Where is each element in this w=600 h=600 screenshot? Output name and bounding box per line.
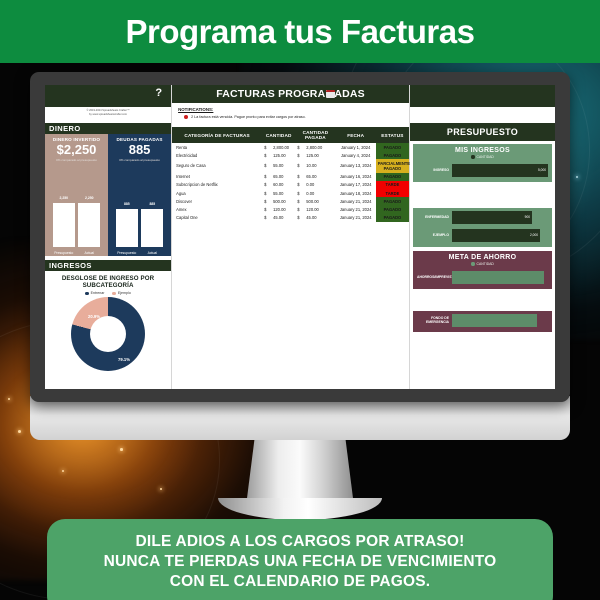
bills-column: FACTURAS PROGRAMADAS NOTIFICATIONS: 2 La… xyxy=(171,85,410,389)
cell-category: Amex xyxy=(172,205,262,213)
cell-date: January 4, 2024 xyxy=(336,151,376,159)
panel-divider-white xyxy=(413,182,552,208)
donut-chart: 79.1% 20.9% xyxy=(71,297,145,371)
income-panel-legend: CANTIDAD xyxy=(417,155,548,159)
cell-category: Agua xyxy=(172,189,262,197)
kpi-card-invertido[interactable]: DINERO INVERTIDO $2,250 0% comparado al … xyxy=(45,134,108,256)
spark xyxy=(18,430,21,433)
cell-category: Internet xyxy=(172,173,262,181)
monitor-screen: ? © 2019-2024 Spreadsheets Crafter™ by w… xyxy=(45,85,555,389)
panel-divider-white xyxy=(413,289,552,311)
monitor: ? © 2019-2024 Spreadsheets Crafter™ by w… xyxy=(30,72,570,402)
monitor-chin xyxy=(30,396,570,440)
spark xyxy=(576,176,578,178)
kpi-bar-label: Actual xyxy=(72,251,106,255)
legend-item: CANTIDAD xyxy=(471,155,494,159)
table-row[interactable]: Renta$2,800.00$2,800.00January 1, 2024PA… xyxy=(172,143,409,151)
cell-amount: $120.00 xyxy=(262,205,295,213)
monitor-stand-column xyxy=(246,438,354,506)
hbar-row: INGRESO 5,000 xyxy=(417,164,548,177)
table-row[interactable]: Seguro de Casa$55.00$10.00January 13, 20… xyxy=(172,159,409,172)
legend-swatch-icon xyxy=(471,262,474,265)
cell-paid: $10.00 xyxy=(295,159,335,172)
savings-panel-title: META DE AHORRO xyxy=(417,254,548,261)
hbar-row: FONDO DE EMERGENCIA xyxy=(417,314,548,327)
bills-table[interactable]: CATEGORÍA DE FACTURAS CANTIDAD CANTIDAD … xyxy=(172,127,409,222)
left-dashboard-column: ? © 2019-2024 Spreadsheets Crafter™ by w… xyxy=(45,85,171,389)
left-top-band: ? xyxy=(45,85,171,107)
kpi-bar-label: Actual xyxy=(135,251,169,255)
table-header-row: CATEGORÍA DE FACTURAS CANTIDAD CANTIDAD … xyxy=(172,127,409,143)
right-spacer xyxy=(410,107,555,123)
cell-paid: $0.00 xyxy=(295,181,335,189)
col-header-category: CATEGORÍA DE FACTURAS xyxy=(172,127,262,143)
cell-paid: $500.00 xyxy=(295,197,335,205)
cell-date: January 18, 2024 xyxy=(336,189,376,197)
cell-paid: $2,800.00 xyxy=(295,143,335,151)
kpi-bar-value: 2,250 xyxy=(53,196,75,200)
bottom-banner: DILE ADIOS A LOS CARGOS POR ATRASO! NUNC… xyxy=(47,519,553,600)
spark xyxy=(160,488,162,490)
hbar: 5,000 xyxy=(452,164,548,177)
table-row[interactable]: Discover$500.00$500.00January 21, 2024PA… xyxy=(172,197,409,205)
kpi-bar: 885 Actual xyxy=(141,209,163,247)
cell-category: Seguro de Casa xyxy=(172,159,262,172)
status-badge: PAGADO xyxy=(376,173,409,181)
status-badge: TARDE xyxy=(376,181,409,189)
cell-date: January 13, 2024 xyxy=(336,159,376,172)
donut-title: DESGLOSE DE INGRESO POR SUBCATEGORÍA xyxy=(48,275,168,289)
cell-date: January 21, 2024 xyxy=(336,205,376,213)
notification-text: 2 La factura está vencida. Pague pronto … xyxy=(191,115,306,119)
donut-hole xyxy=(90,316,126,352)
hbar-value: 900 xyxy=(525,215,530,219)
col-header-date: FECHA xyxy=(336,127,376,143)
status-badge: PAGADO xyxy=(376,214,409,222)
status-badge: PAGADO xyxy=(376,151,409,159)
cell-category: Electricidad xyxy=(172,151,262,159)
cell-paid: $65.00 xyxy=(295,173,335,181)
bills-table-body: Renta$2,800.00$2,800.00January 1, 2024PA… xyxy=(172,143,409,222)
cell-amount: $500.00 xyxy=(262,197,295,205)
spreadsheet-app[interactable]: ? © 2019-2024 Spreadsheets Crafter™ by w… xyxy=(45,85,555,389)
status-badge: TARDE xyxy=(376,189,409,197)
status-badge: PAGADO xyxy=(376,143,409,151)
savings-goal-panel[interactable]: META DE AHORRO CANTIDAD AHORROS/IMPREVIS… xyxy=(413,251,552,289)
kpi-row: DINERO INVERTIDO $2,250 0% comparado al … xyxy=(45,134,171,256)
kpi-bar-value: 2,250 xyxy=(78,196,100,200)
cell-amount: $55.00 xyxy=(262,159,295,172)
savings-goal-panel-cont[interactable]: FONDO DE EMERGENCIA xyxy=(413,311,552,332)
hbar-value: 2,000 xyxy=(530,233,538,237)
kpi-bar-value: 885 xyxy=(116,202,138,206)
cell-category: Discover xyxy=(172,197,262,205)
kpi-value: 885 xyxy=(110,143,169,157)
hbar xyxy=(452,314,537,327)
col-header-paid: CANTIDAD PAGADA xyxy=(295,127,335,143)
notification-item: 2 La factura está vencida. Pague pronto … xyxy=(178,115,403,119)
cell-amount: $2,800.00 xyxy=(262,143,295,151)
legend-label: CANTIDAD xyxy=(477,155,494,159)
hbar-label: ENFERMEDAD xyxy=(417,216,449,220)
cell-amount: $45.00 xyxy=(262,214,295,222)
kpi-bar: 2,250 Presupuesto xyxy=(53,203,75,247)
status-badge: PARCIALMENTE PAGADO xyxy=(376,159,409,172)
hbar-value: 5,000 xyxy=(538,168,546,172)
cell-date: January 16, 2024 xyxy=(336,173,376,181)
hbar-label: EJEMPLO xyxy=(417,234,449,238)
legend-label: Ejemplo xyxy=(118,291,131,295)
cell-paid: $45.00 xyxy=(295,214,335,222)
cell-category: Renta xyxy=(172,143,262,151)
savings-panel-legend: CANTIDAD xyxy=(417,262,548,266)
right-top-band xyxy=(410,85,555,107)
income-panel-cont[interactable]: ENFERMEDAD 900 EJEMPLO 2,000 xyxy=(413,208,552,247)
legend-label: CANTIDAD xyxy=(477,262,494,266)
bills-title-band: FACTURAS PROGRAMADAS xyxy=(172,85,409,103)
budget-column: PRESUPUESTO MIS INGRESOS CANTIDAD INGRES xyxy=(410,85,555,389)
section-header-ingresos: INGRESOS xyxy=(45,260,171,271)
spark xyxy=(8,398,10,400)
income-donut-card[interactable]: DESGLOSE DE INGRESO POR SUBCATEGORÍA Ent… xyxy=(45,271,171,375)
table-row[interactable]: Amex$120.00$120.00January 21, 2024PAGADO xyxy=(172,205,409,213)
table-row[interactable]: Subscripcion de Netflix$60.00$0.00Januar… xyxy=(172,181,409,189)
legend-item: Ejemplo xyxy=(112,291,130,295)
cell-amount: $55.00 xyxy=(262,189,295,197)
hbar-row: EJEMPLO 2,000 xyxy=(417,229,548,242)
help-icon[interactable]: ? xyxy=(155,87,162,99)
hbar-label: AHORROS/IMPREVISTOS xyxy=(417,276,449,280)
cell-category: Capital One xyxy=(172,214,262,222)
hbar: 2,000 xyxy=(452,229,540,242)
cell-date: January 17, 2024 xyxy=(336,181,376,189)
kpi-bar: 2,250 Actual xyxy=(78,203,100,247)
table-row[interactable]: Agua$55.00$0.00January 18, 2024TARDE xyxy=(172,189,409,197)
spark xyxy=(62,470,64,472)
table-row[interactable]: Capital One$45.00$45.00January 21, 2024P… xyxy=(172,214,409,222)
kpi-bar-chart: 885 Presupuesto 885 Actual xyxy=(110,162,169,256)
calendar-icon[interactable] xyxy=(326,90,335,98)
status-badge: PAGADO xyxy=(376,205,409,213)
cell-paid: $0.00 xyxy=(295,189,335,197)
col-header-status: ESTATUS xyxy=(376,127,409,143)
notifications-block: NOTIFICATIONS: 2 La factura está vencida… xyxy=(172,103,409,121)
legend-label: Entrenar xyxy=(91,291,105,295)
table-row[interactable]: Internet$65.00$65.00January 16, 2024PAGA… xyxy=(172,173,409,181)
copyright-text: © 2019-2024 Spreadsheets Crafter™ by www… xyxy=(45,107,171,123)
cell-amount: $60.00 xyxy=(262,181,295,189)
table-row[interactable]: Electricidad$125.00$125.00January 4, 202… xyxy=(172,151,409,159)
hbar xyxy=(452,271,544,284)
legend-item: Entrenar xyxy=(85,291,104,295)
legend-item: CANTIDAD xyxy=(471,262,494,266)
hbar-label: FONDO DE EMERGENCIA xyxy=(417,317,449,325)
cell-paid: $120.00 xyxy=(295,205,335,213)
cell-date: January 21, 2024 xyxy=(336,214,376,222)
hbar-label: INGRESO xyxy=(417,169,449,173)
cell-amount: $65.00 xyxy=(262,173,295,181)
kpi-bar-value: 885 xyxy=(141,202,163,206)
kpi-value: $2,250 xyxy=(47,143,106,157)
poster-canvas: Programa tus Facturas ? © 2019-2024 Spre… xyxy=(0,0,600,600)
bills-title: FACTURAS PROGRAMADAS xyxy=(216,88,365,100)
hbar: 900 xyxy=(452,211,532,224)
notifications-label: NOTIFICATIONS: xyxy=(178,107,403,112)
section-header-dinero: DINERO xyxy=(45,123,171,134)
footer-tagline: DILE ADIOS A LOS CARGOS POR ATRASO! NUNC… xyxy=(104,532,497,591)
cell-amount: $125.00 xyxy=(262,151,295,159)
kpi-bar-chart: 2,250 Presupuesto 2,250 Actual xyxy=(47,162,106,256)
hbar-row: AHORROS/IMPREVISTOS xyxy=(417,271,548,284)
top-banner: Programa tus Facturas xyxy=(0,0,600,63)
cell-date: January 21, 2024 xyxy=(336,197,376,205)
status-badge: PAGADO xyxy=(376,197,409,205)
kpi-card-deudas[interactable]: DEUDAS PAGADAS 885 0% comparado al presu… xyxy=(108,134,171,256)
spark xyxy=(120,448,123,451)
poster-title: Programa tus Facturas xyxy=(126,15,475,48)
kpi-bar: 885 Presupuesto xyxy=(116,209,138,247)
section-header-presupuesto: PRESUPUESTO xyxy=(410,123,555,141)
donut-slice-label: 20.9% xyxy=(88,314,100,319)
legend-swatch-icon xyxy=(471,155,474,158)
legend-swatch-icon xyxy=(85,292,88,295)
donut-slice-label: 79.1% xyxy=(118,357,130,362)
cell-paid: $125.00 xyxy=(295,151,335,159)
income-panel[interactable]: MIS INGRESOS CANTIDAD INGRESO 5,0 xyxy=(413,144,552,182)
donut-legend: Entrenar Ejemplo xyxy=(48,291,168,295)
income-panel-title: MIS INGRESOS xyxy=(417,147,548,154)
cell-date: January 1, 2024 xyxy=(336,143,376,151)
hbar-row: ENFERMEDAD 900 xyxy=(417,211,548,224)
legend-swatch-icon xyxy=(112,292,115,295)
cell-category: Subscripcion de Netflix xyxy=(172,181,262,189)
alert-dot-icon xyxy=(184,115,188,119)
col-header-amount: CANTIDAD xyxy=(262,127,295,143)
